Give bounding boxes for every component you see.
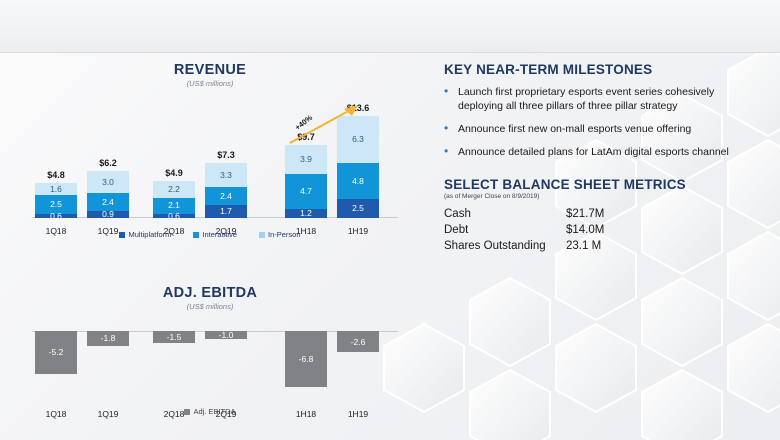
revenue-segment-interactive: 4.8 [337,163,379,199]
legend-swatch-multiplatform [119,232,125,238]
milestones-heading: KEY NEAR-TERM MILESTONES [444,62,764,77]
revenue-chart-title: REVENUE [10,62,410,78]
legend-item-multiplatform: Multiplatform [119,230,171,239]
bullet-dot-icon: • [444,145,458,159]
legend-item-in-person: In-Person [259,230,301,239]
legend-label-interactive: Interactive [202,230,237,239]
header-divider [0,52,780,53]
revenue-bar-stack: 3.94.71.2 [285,145,327,219]
revenue-segment-in-person: 3.3 [205,163,247,188]
legend-swatch-in-person [259,232,265,238]
list-item: • Announce detailed plans for LatAm digi… [444,145,764,159]
revenue-segment-interactive: 2.4 [205,187,247,205]
milestone-text: Announce first new on-mall esports venue… [458,122,691,136]
metric-label: Debt [444,222,566,238]
legend-label-adj-ebitda: Adj. EBITDA [193,407,235,416]
legend-swatch-adj-ebitda [184,409,190,415]
ebitda-chart-title: ADJ. EBITDA [10,285,410,301]
legend-label-in-person: In-Person [268,230,301,239]
revenue-segment-interactive: 4.7 [285,174,327,209]
ebitda-bar: -6.8 [285,331,327,387]
legend-item-interactive: Interactive [193,230,237,239]
ebitda-bar: -1.0 [205,331,247,339]
revenue-segment-multiplatform: 0.9 [87,211,129,218]
metric-value: $21.7M [566,206,604,222]
revenue-segment-in-person: 3.9 [285,145,327,174]
milestone-text: Launch first proprietary esports event s… [458,85,732,113]
revenue-total-label: $7.3 [202,150,250,160]
balance-sheet-section: SELECT BALANCE SHEET METRICS (as of Merg… [444,177,764,254]
milestone-text: Announce detailed plans for LatAm digita… [458,145,729,159]
revenue-bar-stack: 2.22.10.6 [153,181,195,218]
revenue-segment-in-person: 1.6 [35,183,77,195]
revenue-segment-multiplatform: 0.6 [153,214,195,219]
revenue-bar-stack: 1.62.50.6 [35,183,77,218]
legend-item-adj-ebitda: Adj. EBITDA [184,407,235,416]
revenue-chart-subtitle: (US$ millions) [10,79,410,88]
revenue-segment-multiplatform: 0.6 [35,214,77,219]
ebitda-chart-subtitle: (US$ millions) [10,302,410,311]
revenue-plot-area: +40% 1.62.50.6$4.81Q183.02.40.9$6.21Q192… [10,93,410,238]
legend-label-multiplatform: Multiplatform [128,230,171,239]
revenue-bar-stack: 3.02.40.9 [87,171,129,218]
revenue-total-label: $4.8 [32,170,80,180]
revenue-legend: Multiplatform Interactive In-Person [10,230,410,239]
slide-header [0,0,780,52]
ebitda-bar: -1.5 [153,331,195,343]
list-item: • Launch first proprietary esports event… [444,85,764,113]
balance-sheet-heading: SELECT BALANCE SHEET METRICS [444,177,764,192]
balance-sheet-table: Cash $21.7M Debt $14.0M Shares Outstandi… [444,206,764,254]
revenue-total-label: $4.9 [150,168,198,178]
revenue-total-label: $6.2 [84,158,132,168]
ebitda-bar: -5.2 [35,331,77,374]
ebitda-legend: Adj. EBITDA [10,407,410,416]
revenue-segment-multiplatform: 2.5 [337,199,379,218]
right-content-column: KEY NEAR-TERM MILESTONES • Launch first … [444,62,764,254]
metric-label: Shares Outstanding [444,238,566,254]
bullet-dot-icon: • [444,122,458,136]
revenue-segment-multiplatform: 1.7 [205,205,247,218]
revenue-segment-in-person: 3.0 [87,171,129,194]
milestones-list: • Launch first proprietary esports event… [444,85,764,159]
revenue-chart: REVENUE (US$ millions) +40% 1.62.50.6$4.… [10,62,410,262]
ebitda-bar: -2.6 [337,331,379,352]
slide-root: FINANCIAL & OPERATIONAL HIGHLIGHTS 17 RE… [0,0,780,440]
adj-ebitda-chart: ADJ. EBITDA (US$ millions) -5.21Q18-1.81… [10,285,410,435]
metric-label: Cash [444,206,566,222]
table-row: Cash $21.7M [444,206,764,222]
table-row: Shares Outstanding 23.1 M [444,238,764,254]
revenue-segment-multiplatform: 1.2 [285,209,327,218]
revenue-segment-in-person: 2.2 [153,181,195,198]
metric-value: $14.0M [566,222,604,238]
balance-sheet-subheading: (as of Merger Close on 8/9/2019) [444,193,764,200]
table-row: Debt $14.0M [444,222,764,238]
legend-swatch-interactive [193,232,199,238]
bullet-dot-icon: • [444,85,458,113]
ebitda-bar: -1.8 [87,331,129,346]
metric-value: 23.1 M [566,238,601,254]
revenue-bar-stack: 3.32.41.7 [205,163,247,219]
list-item: • Announce first new on-mall esports ven… [444,122,764,136]
